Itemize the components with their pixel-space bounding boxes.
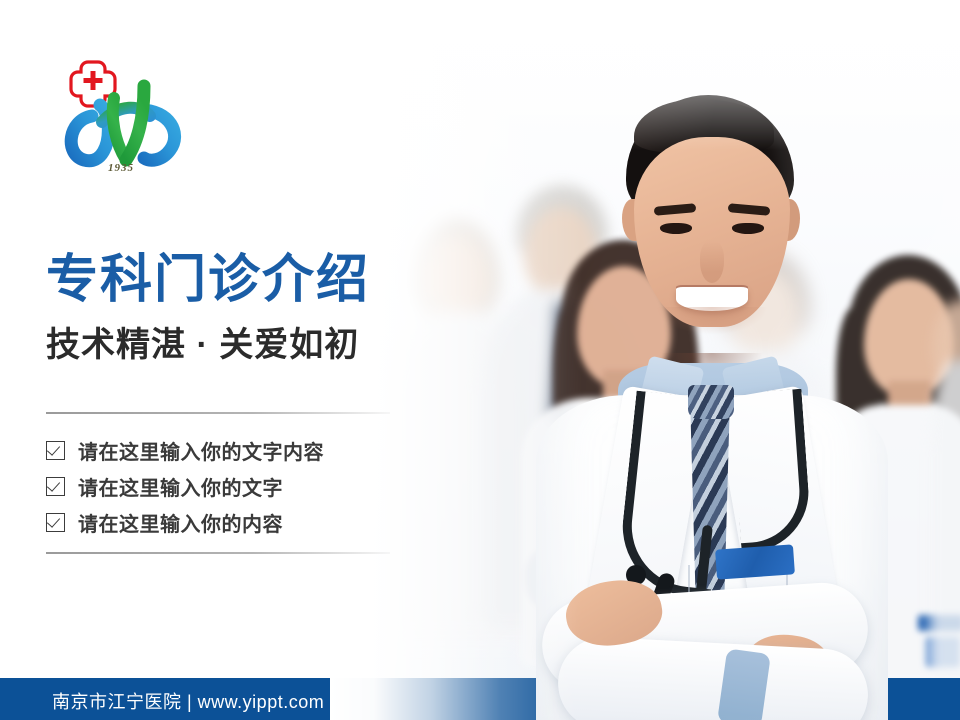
main-doctor-figure [530,95,890,720]
slide-content-column: 1935 专科门诊介绍 技术精湛 · 关爱如初 请在这里输入你的文字内容 请在这… [0,0,430,720]
bullet-list: 请在这里输入你的文字内容 请在这里输入你的文字 请在这里输入你的内容 [46,432,406,540]
list-item[interactable]: 请在这里输入你的文字内容 [46,432,406,468]
list-item-label: 请在这里输入你的文字内容 [78,436,324,465]
divider-top [46,412,390,414]
divider-bottom [46,552,390,554]
list-item[interactable]: 请在这里输入你的文字 [46,468,406,504]
footer-label: 南京市江宁医院 | www.yippt.com [52,688,324,714]
hospital-logo: 1935 [58,58,192,188]
checked-checkbox-icon[interactable] [46,477,65,496]
page-title: 专科门诊介绍 [46,252,370,309]
checked-checkbox-icon[interactable] [46,513,65,532]
list-item[interactable]: 请在这里输入你的内容 [46,504,406,540]
page-subtitle: 技术精湛 · 关爱如初 [46,325,359,366]
background-staff-member [930,300,960,680]
checked-checkbox-icon[interactable] [46,441,65,460]
logo-year-label: 1935 [86,162,156,174]
id-badge [715,544,795,579]
list-item-label: 请在这里输入你的文字 [78,472,283,501]
presentation-slide: 1935 专科门诊介绍 技术精湛 · 关爱如初 请在这里输入你的文字内容 请在这… [0,0,960,720]
list-item-label: 请在这里输入你的内容 [78,508,283,537]
